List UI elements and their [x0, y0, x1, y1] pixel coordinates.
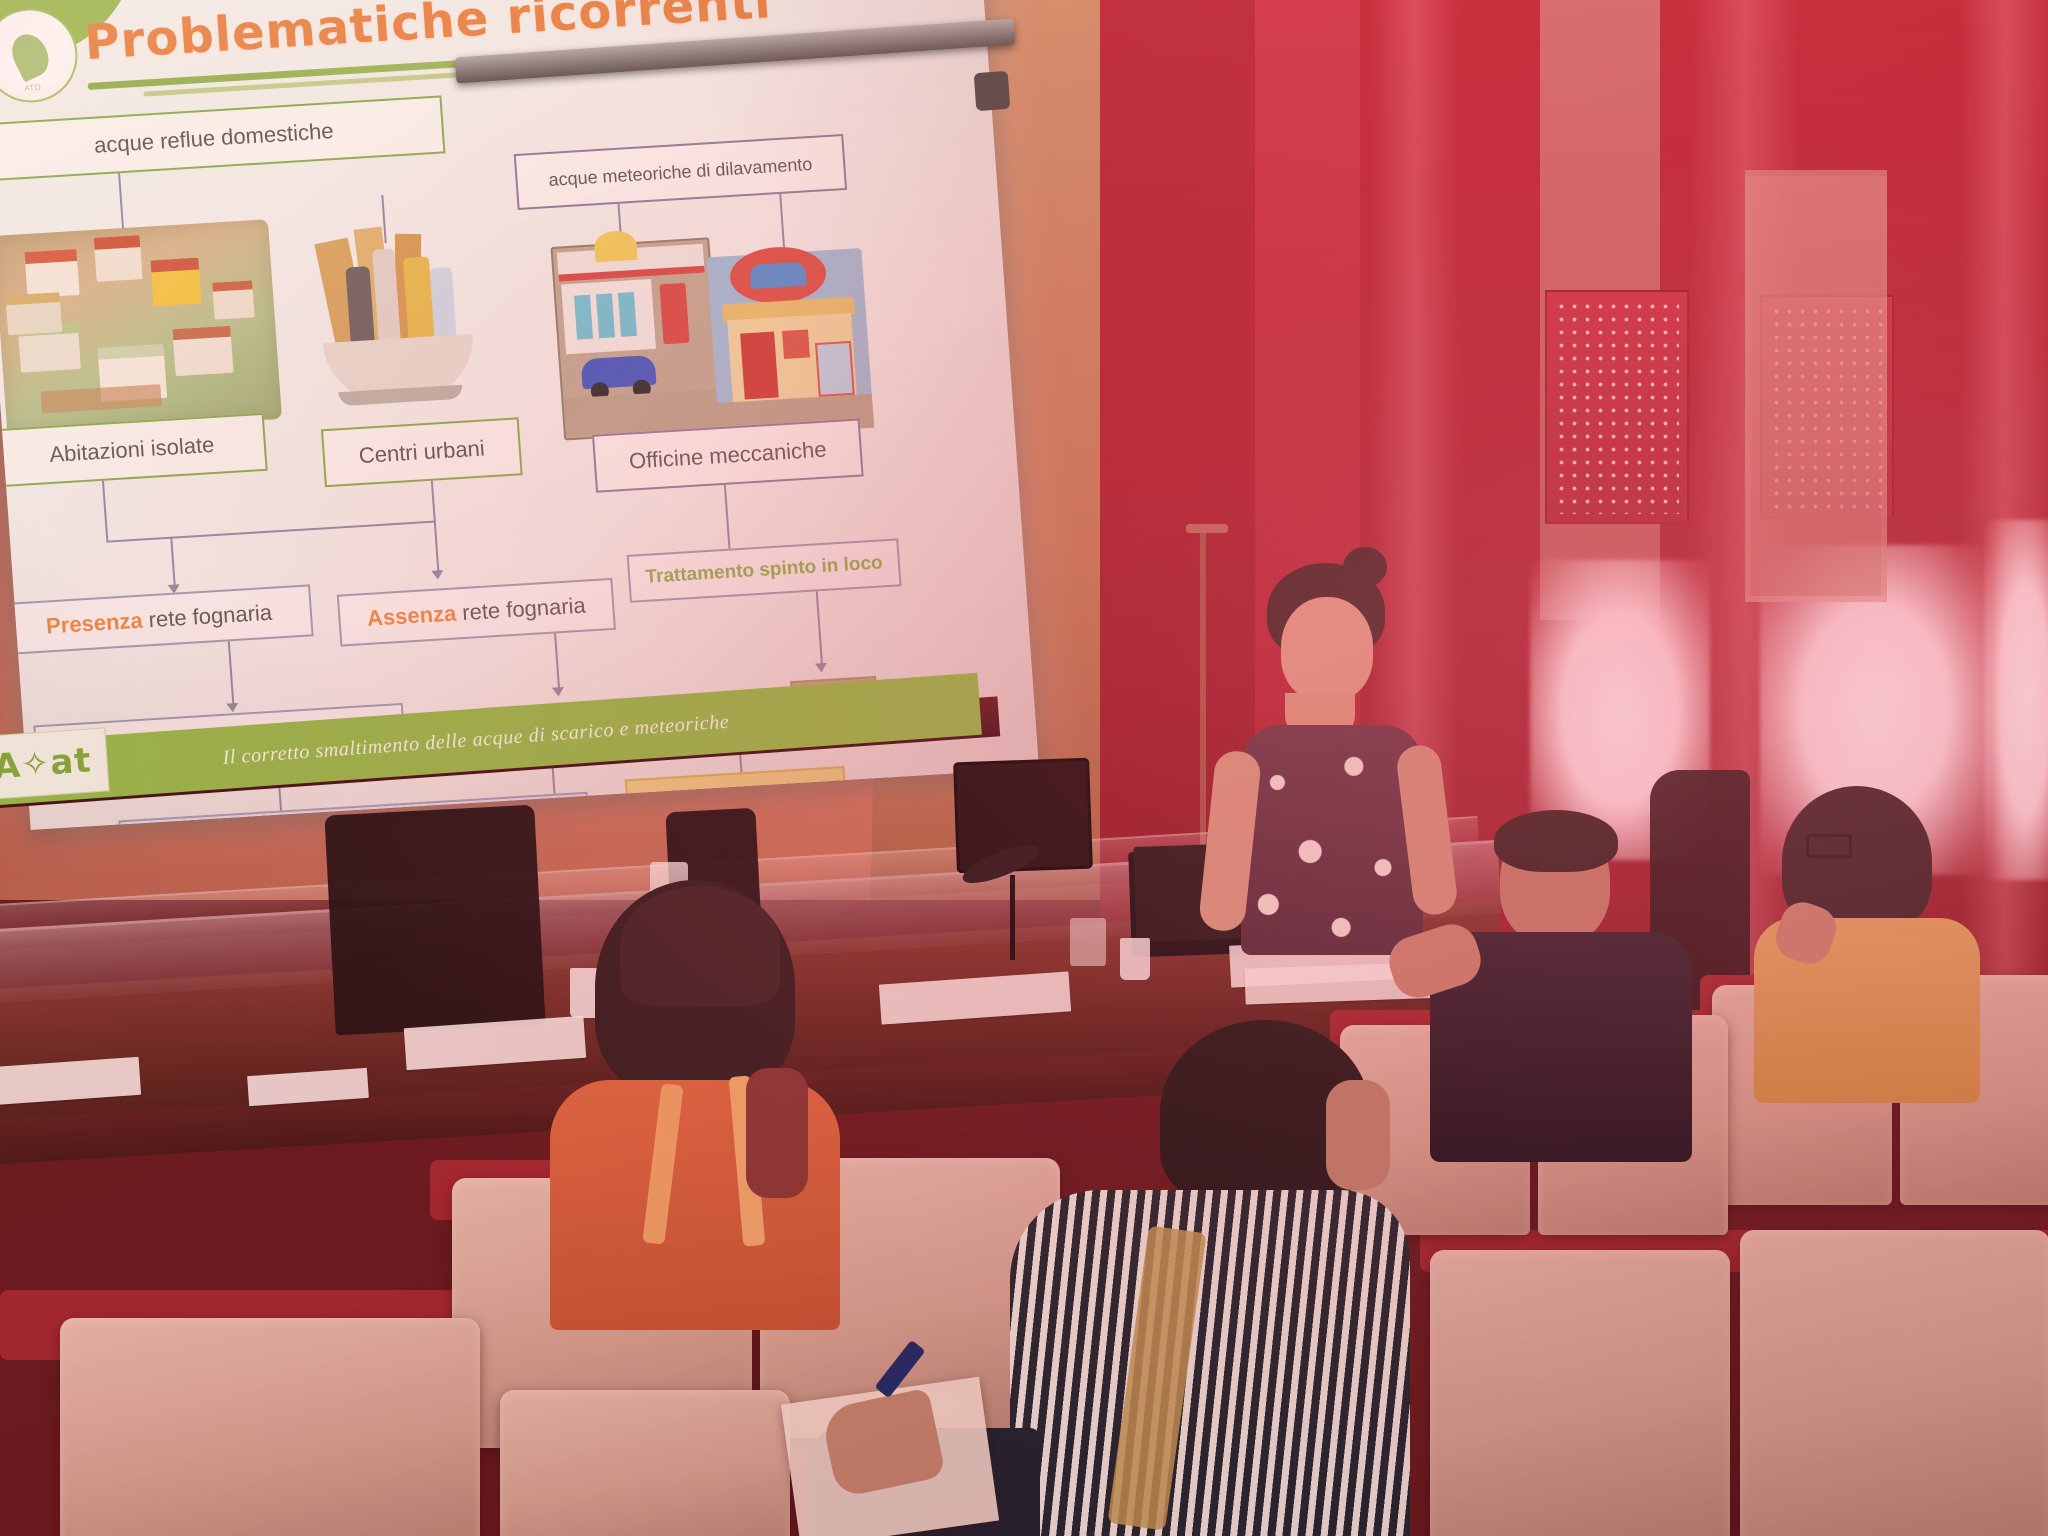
conference-room-photo: ATO Problematiche ricorrenti acque reflu…	[0, 0, 2048, 1536]
assenza-highlight: Assenza	[366, 601, 457, 631]
window-glow-far	[1985, 520, 2048, 880]
connector-presenza-down	[228, 641, 235, 707]
window-blind-left[interactable]	[1545, 290, 1689, 524]
person-attendee-glasses	[1760, 800, 1980, 1100]
household-products-icon	[309, 222, 487, 422]
connector-assenza-down	[554, 633, 560, 691]
connector-centri-down	[431, 481, 436, 523]
chair-back-left[interactable]	[324, 805, 545, 1036]
connector-abitazioni-down	[102, 481, 108, 541]
connector-to-presenza	[170, 537, 176, 589]
car-workshop-icon	[707, 248, 875, 437]
connector-reflue-to-abitazioni	[118, 173, 124, 231]
assenza-rest: rete fognaria	[455, 593, 586, 626]
arrow-to-trattamento-in-loco	[552, 687, 565, 697]
fuel-station-icon	[550, 237, 723, 440]
shoulder-bag	[746, 1068, 808, 1198]
seat-front-right-2[interactable]	[1740, 1230, 2048, 1536]
pen-holder[interactable]	[1070, 918, 1106, 966]
person-presenter	[1225, 575, 1435, 955]
cup-right[interactable]	[1120, 938, 1150, 980]
presenza-rest: rete fognaria	[142, 600, 273, 633]
box-trattamento-spinto-in-loco: Trattamento spinto in loco	[627, 538, 902, 602]
seat-front-1[interactable]	[60, 1318, 480, 1536]
connector-abitazioni-across	[106, 521, 436, 543]
isolated-houses-icon	[0, 219, 282, 435]
arrow-to-assenza	[431, 570, 444, 580]
box-centri-urbani: Centri urbani	[321, 417, 523, 487]
lamp-head	[1186, 524, 1228, 533]
attendee-striped-torso	[1010, 1190, 1410, 1536]
connector-to-assenza	[434, 521, 440, 573]
attendee-orange-hair-top	[620, 886, 780, 1006]
connector-spinto-down	[816, 591, 823, 667]
attendee-striped-ear	[1326, 1080, 1390, 1190]
box-acque-reflue-domestiche: acque reflue domestiche	[0, 95, 445, 181]
logo-ring-text: ATO	[0, 81, 78, 95]
presenter-torso	[1241, 725, 1423, 955]
person-attendee-striped	[1040, 1020, 1460, 1536]
box-presenza-rete-fognaria: Presenza rete fognaria	[4, 584, 313, 655]
lamp-pole	[1200, 530, 1206, 860]
arrow-to-depuratore	[226, 703, 239, 713]
presenza-highlight: Presenza	[45, 608, 143, 639]
arrow-to-riuso	[815, 663, 828, 673]
person-attendee-suit	[1430, 820, 1690, 1150]
box-acque-meteoriche-di-dilavamento: acque meteoriche di dilavamento	[514, 134, 847, 210]
seat-front-right-1[interactable]	[1430, 1250, 1730, 1536]
presenter-hair-bun	[1343, 547, 1387, 587]
microphone-stand	[1010, 875, 1015, 960]
attendee-suit-hair	[1494, 810, 1618, 872]
seat-front-2[interactable]	[500, 1390, 790, 1536]
wall-recess	[1745, 170, 1887, 602]
presenter-head	[1281, 597, 1373, 701]
person-attendee-orange	[540, 880, 840, 1300]
aato-footer-logo-icon: A✧at	[0, 727, 110, 800]
box-assenza-rete-fognaria: Assenza rete fognaria	[337, 578, 616, 647]
projector-screen-rail-end	[974, 71, 1011, 111]
glasses-icon	[1806, 834, 1852, 858]
